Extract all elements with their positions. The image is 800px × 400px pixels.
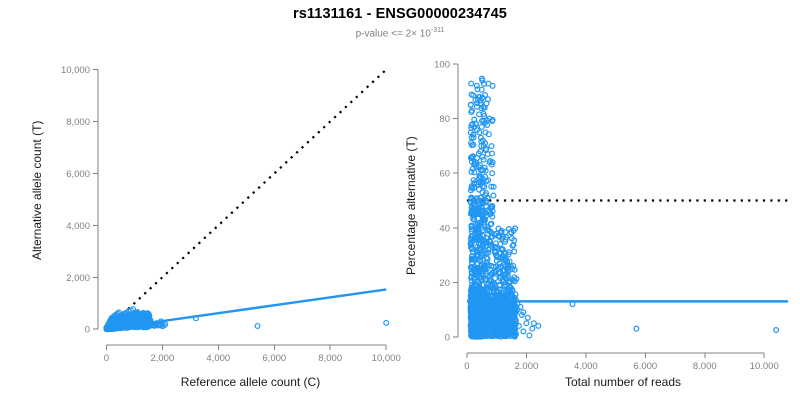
y-axis-tick-label: 8,000	[66, 117, 90, 128]
y-axis-tick-label: 100	[434, 60, 450, 71]
right-plot-panel: 02040608010002,0004,0006,0008,00010,000	[420, 44, 800, 369]
data-point	[536, 324, 541, 329]
data-point	[634, 326, 639, 331]
left-plot-panel: 02,0004,0006,0008,00010,00002,0004,0006,…	[56, 44, 416, 369]
data-point	[512, 249, 517, 254]
y-axis-tick-label: 20	[439, 278, 450, 289]
x-axis-tick-label: 6,000	[633, 361, 657, 369]
x-axis-tick-label: 2,000	[150, 353, 174, 364]
x-axis-tick-label: 0	[104, 353, 109, 364]
y-axis-tick-label: 60	[439, 169, 450, 180]
figure-subtitle: p-value <= 2× 10-311	[0, 27, 800, 39]
right-plot-x-axis-title: Total number of reads	[458, 375, 788, 389]
subtitle-multiplier: × 10	[411, 28, 431, 39]
fit-line	[106, 289, 386, 328]
right-plot-x-axis-title-text: Total number of reads	[565, 375, 681, 389]
y-axis-tick-label: 4,000	[66, 221, 90, 232]
data-point	[774, 328, 779, 333]
y-axis-tick-label: 0	[85, 325, 90, 336]
y-axis-tick-label: 0	[445, 332, 450, 343]
data-point	[469, 81, 474, 86]
left-plot-x-axis-title: Reference allele count (C)	[98, 375, 403, 389]
x-axis-tick-label: 4,000	[574, 361, 598, 369]
figure-title: rs1131161 - ENSG00000234745	[0, 6, 800, 22]
x-axis-tick-label: 10,000	[372, 353, 401, 364]
x-axis-tick-label: 6,000	[262, 353, 286, 364]
data-point	[521, 329, 526, 334]
data-point	[255, 324, 260, 329]
y-axis-tick-label: 10,000	[61, 65, 90, 76]
reference-dotted-line	[106, 70, 386, 330]
x-axis-tick-label: 4,000	[206, 353, 230, 364]
figure-root: rs1131161 - ENSG00000234745 p-value <= 2…	[0, 0, 800, 400]
data-point	[518, 304, 523, 309]
scatter-points	[468, 76, 778, 339]
data-point	[486, 97, 491, 102]
data-point	[490, 171, 495, 176]
left-plot-x-axis-title-text: Reference allele count (C)	[181, 375, 320, 389]
y-axis-tick-label: 2,000	[66, 273, 90, 284]
left-plot-y-axis-title: Alternative allele count (T)	[30, 121, 44, 260]
data-point	[524, 321, 529, 326]
data-point	[489, 144, 494, 149]
data-point	[527, 333, 532, 338]
right-plot-y-axis-title-text: Percentage alternative (T)	[404, 136, 418, 275]
y-axis-tick-label: 40	[439, 223, 450, 234]
x-axis-tick-label: 0	[464, 361, 469, 369]
x-axis-tick-label: 10,000	[750, 361, 779, 369]
data-point	[490, 83, 495, 88]
data-point	[384, 320, 389, 325]
x-axis-tick-label: 8,000	[693, 361, 717, 369]
y-axis-tick-label: 80	[439, 114, 450, 125]
x-axis-tick-label: 8,000	[318, 353, 342, 364]
data-point	[493, 276, 498, 281]
left-plot-y-axis-title-text: Alternative allele count (T)	[30, 121, 44, 260]
right-plot-y-axis-title: Percentage alternative (T)	[404, 136, 418, 275]
y-axis-tick-label: 6,000	[66, 169, 90, 180]
x-axis-tick-label: 2,000	[514, 361, 538, 369]
subtitle-exponent: -311	[431, 27, 445, 34]
data-point	[491, 193, 496, 198]
subtitle-pvalue-text: p-value <= 2	[356, 28, 412, 39]
data-point	[530, 326, 535, 331]
data-point	[525, 315, 530, 320]
